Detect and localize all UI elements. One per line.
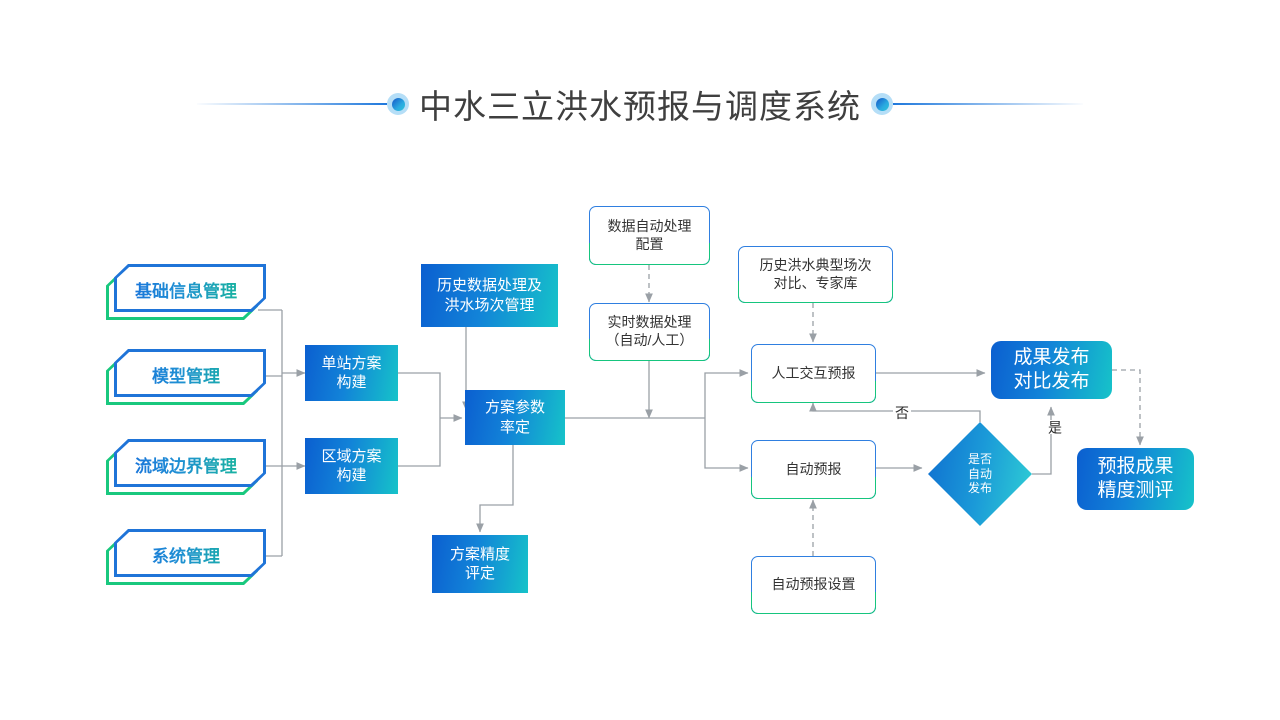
node-scheme-parameter-calibration[interactable]: 方案参数 率定 — [465, 390, 565, 445]
sidebar-item-basin-boundary-management[interactable]: 流域边界管理 — [106, 439, 266, 495]
node-history-flood-typical-event[interactable]: 历史洪水典型场次 对比、专家库 — [738, 246, 893, 303]
title-rule-right — [893, 103, 1083, 105]
slide-canvas: 中水三立洪水预报与调度系统 — [0, 0, 1280, 720]
node-regional-scheme[interactable]: 区域方案 构建 — [305, 438, 398, 494]
box-underline-green — [751, 592, 877, 614]
branch-label-yes: 是 — [1043, 420, 1067, 434]
box-underline-green — [751, 477, 877, 500]
node-label: 方案参数 率定 — [485, 398, 545, 436]
node-label: 区域方案 构建 — [321, 447, 381, 485]
node-auto-forecast[interactable]: 自动预报 — [751, 440, 876, 499]
node-label: 历史数据处理及 洪水场次管理 — [437, 276, 542, 314]
box-underline-green — [751, 381, 877, 404]
node-label: 方案精度 评定 — [450, 545, 510, 583]
branch-label-no: 否 — [893, 403, 911, 423]
sidebar-item-model-management[interactable]: 模型管理 — [106, 349, 266, 405]
sidebar-item-label: 基础信息管理 — [110, 268, 262, 316]
circle-marker-icon-left — [387, 93, 409, 115]
circle-marker-icon-right — [871, 93, 893, 115]
node-result-publish-compare[interactable]: 成果发布 对比发布 — [991, 341, 1112, 399]
sidebar-item-system-management[interactable]: 系统管理 — [106, 529, 266, 585]
node-auto-data-process-config[interactable]: 数据自动处理 配置 — [589, 206, 710, 265]
page-title-band: 中水三立洪水预报与调度系统 — [0, 78, 1280, 130]
node-forecast-accuracy-evaluation[interactable]: 预报成果 精度测评 — [1077, 448, 1194, 510]
node-scheme-accuracy-evaluation[interactable]: 方案精度 评定 — [432, 535, 528, 593]
node-label: 历史洪水典型场次 对比、专家库 — [756, 257, 876, 293]
node-label: 自动预报设置 — [768, 576, 860, 594]
sidebar-item-label: 流域边界管理 — [110, 443, 262, 491]
node-label: 成果发布 对比发布 — [1013, 346, 1089, 395]
title-rule-left — [197, 103, 387, 105]
page-title: 中水三立洪水预报与调度系统 — [409, 80, 871, 128]
node-manual-interactive-forecast[interactable]: 人工交互预报 — [751, 344, 876, 403]
node-label: 是否 自动 发布 — [928, 422, 1032, 526]
node-history-data-flood-event[interactable]: 历史数据处理及 洪水场次管理 — [421, 264, 558, 327]
sidebar-item-label: 模型管理 — [110, 353, 262, 401]
node-label: 数据自动处理 配置 — [604, 218, 696, 254]
node-label: 实时数据处理 （自动/人工） — [602, 314, 698, 350]
sidebar-item-basic-info-management[interactable]: 基础信息管理 — [106, 264, 266, 320]
node-label: 预报成果 精度测评 — [1097, 455, 1173, 504]
node-label: 人工交互预报 — [768, 365, 860, 383]
node-label: 单站方案 构建 — [321, 354, 381, 392]
sidebar-item-label: 系统管理 — [110, 533, 262, 581]
node-label: 自动预报 — [782, 461, 846, 479]
node-realtime-data-process[interactable]: 实时数据处理 （自动/人工） — [589, 303, 710, 361]
node-auto-publish-decision[interactable]: 是否 自动 发布 — [928, 422, 1032, 526]
node-single-station-scheme[interactable]: 单站方案 构建 — [305, 345, 398, 401]
node-auto-forecast-settings[interactable]: 自动预报设置 — [751, 556, 876, 614]
